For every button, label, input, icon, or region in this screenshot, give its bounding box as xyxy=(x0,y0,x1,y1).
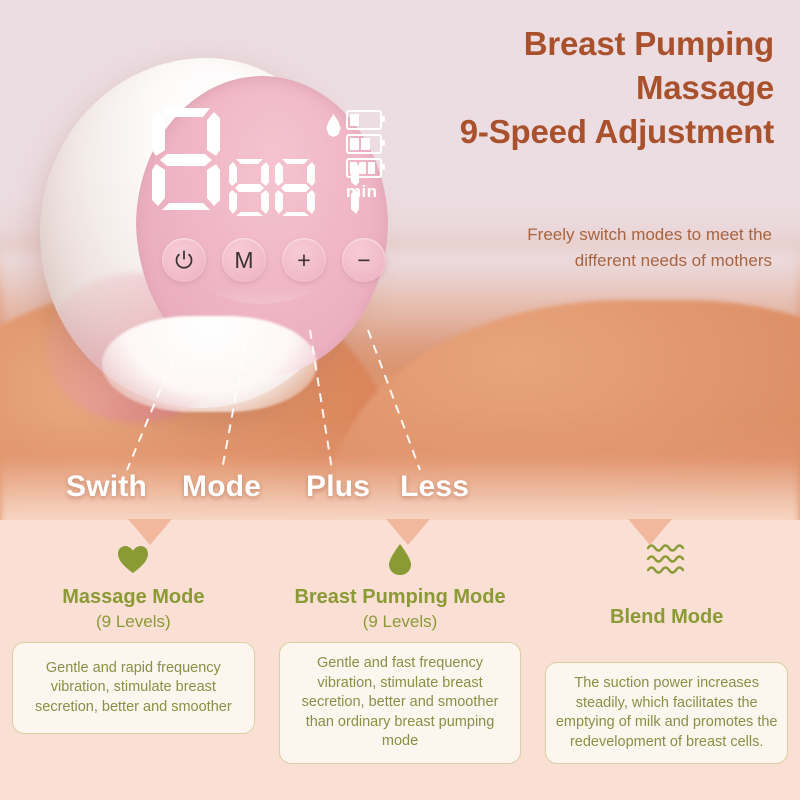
mode-column-blend: Blend Mode The suction power increases s… xyxy=(533,522,800,800)
device-button-row: M + − xyxy=(162,238,382,284)
led-main-digit xyxy=(150,106,222,210)
breast-pump-device: min M + − xyxy=(40,58,370,428)
mode-button-glyph: M xyxy=(234,249,253,272)
callout-mode: Mode xyxy=(182,470,261,504)
callout-plus: Plus xyxy=(306,470,370,504)
callout-switch: Swith xyxy=(66,470,147,504)
plus-button[interactable]: + xyxy=(282,238,326,282)
massage-mode-icon-wrap xyxy=(117,538,149,580)
device-lower-glow xyxy=(102,316,317,412)
plus-button-glyph: + xyxy=(297,249,310,272)
mode-description-blend: The suction power increases steadily, wh… xyxy=(545,662,788,764)
droplet-icon xyxy=(325,114,342,137)
waves-icon xyxy=(646,542,688,576)
minus-button-glyph: − xyxy=(357,249,370,272)
title-line-2: Massage xyxy=(374,66,774,110)
hero-photo: min M + − xyxy=(0,0,800,520)
callout-labels: Swith Mode Plus Less xyxy=(0,470,800,514)
mode-levels-massage: (9 Levels) xyxy=(96,612,171,632)
title-line-1: Breast Pumping xyxy=(374,22,774,66)
mode-description-massage: Gentle and rapid frequency vibration, st… xyxy=(12,642,255,734)
led-digit-1 xyxy=(228,158,270,216)
mode-description-pumping: Gentle and fast frequency vibration, sti… xyxy=(279,642,522,764)
led-digit-2 xyxy=(274,158,316,216)
mode-title-pumping: Breast Pumping Mode xyxy=(294,586,505,609)
mode-title-blend: Blend Mode xyxy=(610,606,723,629)
led-display: min xyxy=(150,106,380,216)
title-line-3: 9-Speed Adjustment xyxy=(374,110,774,154)
droplet-icon xyxy=(387,543,413,576)
mode-levels-pumping: (9 Levels) xyxy=(363,612,438,632)
minus-button[interactable]: − xyxy=(342,238,386,282)
blend-mode-icon-wrap xyxy=(646,538,688,580)
heart-icon xyxy=(117,545,149,574)
mode-title-massage: Massage Mode xyxy=(62,586,204,609)
page-title: Breast Pumping Massage 9-Speed Adjustmen… xyxy=(374,22,774,155)
mode-column-massage: Massage Mode (9 Levels) Gentle and rapid… xyxy=(0,522,267,800)
product-infographic: min M + − xyxy=(0,0,800,800)
power-icon xyxy=(173,249,195,271)
callout-less: Less xyxy=(400,470,469,504)
power-button[interactable] xyxy=(162,238,206,282)
mode-button[interactable]: M xyxy=(222,238,266,282)
battery-level-3-icon xyxy=(346,158,382,178)
subtitle: Freely switch modes to meet the differen… xyxy=(472,222,772,275)
mode-column-breast-pumping: Breast Pumping Mode (9 Levels) Gentle an… xyxy=(267,522,534,800)
mode-columns: Massage Mode (9 Levels) Gentle and rapid… xyxy=(0,522,800,800)
pumping-mode-icon-wrap xyxy=(387,538,413,580)
led-unit-label: min xyxy=(346,182,377,202)
